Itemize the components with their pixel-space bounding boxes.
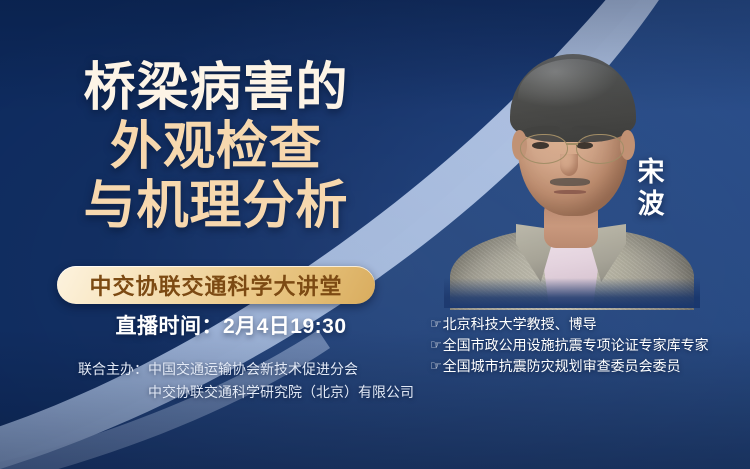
credential-row: ☞ 全国城市抗震防灾规划审查委员会委员 — [430, 356, 746, 377]
speaker-credentials: ☞ 北京科技大学教授、博导 ☞ 全国市政公用设施抗震专项论证专家库专家 ☞ 全国… — [430, 314, 746, 377]
title-line-3: 与机理分析 — [0, 180, 432, 233]
organizer-line-1: 联合主办：中国交通运输协会新技术促进分会 — [78, 358, 458, 381]
credential-row: ☞ 北京科技大学教授、博导 — [430, 314, 746, 335]
organizers: 联合主办：中国交通运输协会新技术促进分会 中交协联交通科学研究院（北京）有限公司 — [78, 358, 458, 404]
pointing-hand-icon: ☞ — [430, 356, 442, 376]
series-banner-pill: 中交协联交通科学大讲堂 — [57, 266, 375, 304]
title-line-1: 桥梁病害的 — [0, 62, 432, 115]
speaker-name-char-2: 波 — [632, 189, 670, 221]
organizer-line-2: 中交协联交通科学研究院（北京）有限公司 — [148, 381, 458, 404]
speaker-name-char-1: 宋 — [632, 157, 670, 189]
title-line-2: 外观检查 — [0, 121, 432, 174]
credential-text: 全国城市抗震防灾规划审查委员会委员 — [443, 356, 681, 377]
credential-text: 北京科技大学教授、博导 — [443, 314, 597, 335]
webinar-poster: 桥梁病害的 外观检查 与机理分析 中交协联交通科学大讲堂 直播时间：2月4日19… — [0, 0, 750, 469]
credential-row: ☞ 全国市政公用设施抗震专项论证专家库专家 — [430, 335, 746, 356]
speaker-name: 宋 波 — [632, 157, 670, 221]
series-banner-label: 中交协联交通科学大讲堂 — [89, 269, 342, 301]
broadcast-time: 直播时间：2月4日19:30 — [0, 310, 462, 340]
pointing-hand-icon: ☞ — [430, 335, 442, 355]
pointing-hand-icon: ☞ — [430, 314, 442, 334]
page-title: 桥梁病害的 外观检查 与机理分析 — [0, 62, 432, 233]
credential-text: 全国市政公用设施抗震专项论证专家库专家 — [443, 335, 709, 356]
